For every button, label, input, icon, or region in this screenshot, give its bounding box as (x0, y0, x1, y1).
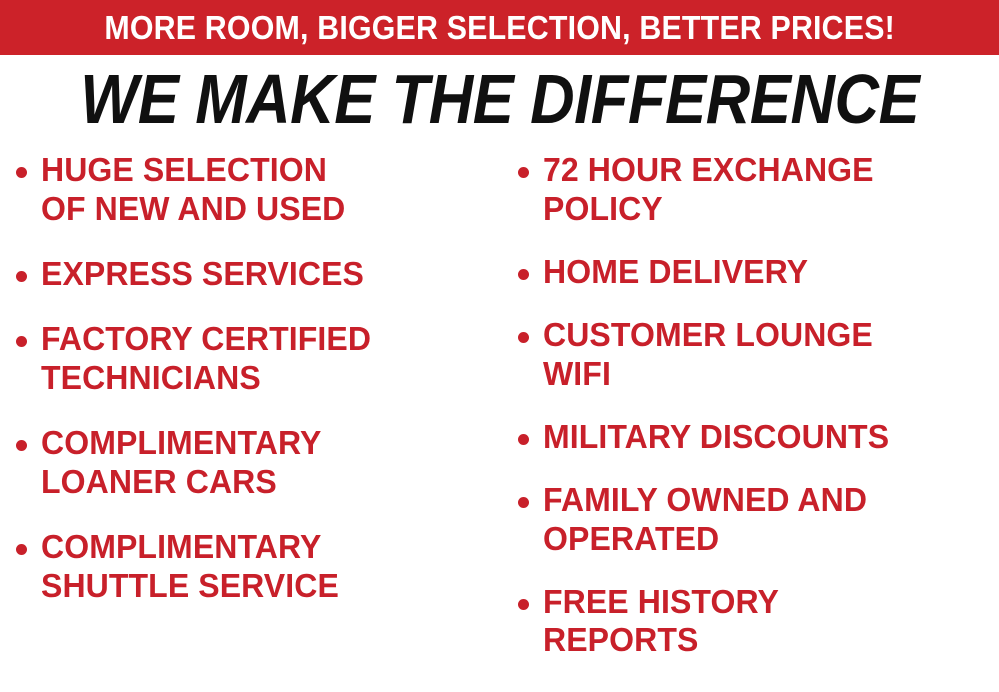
bullet-dot-icon (518, 332, 529, 343)
promo-banner: MORE ROOM, BIGGER SELECTION, BETTER PRIC… (0, 0, 999, 55)
features-columns: HUGE SELECTION OF NEW AND USED EXPRESS S… (0, 143, 999, 692)
list-item: COMPLIMENTARY SHUTTLE SERVICE (16, 528, 500, 606)
list-item-label: MILITARY DISCOUNTS (543, 418, 889, 457)
list-item-label: HOME DELIVERY (543, 253, 808, 292)
list-item: FAMILY OWNED AND OPERATED (518, 481, 999, 559)
list-item: MILITARY DISCOUNTS (518, 418, 999, 457)
bullet-dot-icon (16, 544, 27, 555)
list-item-label: HUGE SELECTION OF NEW AND USED (41, 151, 345, 229)
title-section: WE MAKE THE DIFFERENCE (0, 55, 999, 143)
bullet-dot-icon (518, 167, 529, 178)
list-item-label: FACTORY CERTIFIED TECHNICIANS (41, 320, 371, 398)
list-item-label: FAMILY OWNED AND OPERATED (543, 481, 867, 559)
list-item-label: COMPLIMENTARY LOANER CARS (41, 424, 321, 502)
list-item: CUSTOMER LOUNGE WIFI (518, 316, 999, 394)
bullet-dot-icon (518, 599, 529, 610)
list-item: HUGE SELECTION OF NEW AND USED (16, 151, 500, 229)
features-column-left: HUGE SELECTION OF NEW AND USED EXPRESS S… (0, 151, 500, 692)
bullet-dot-icon (16, 167, 27, 178)
bullet-dot-icon (16, 440, 27, 451)
banner-headline: MORE ROOM, BIGGER SELECTION, BETTER PRIC… (104, 11, 895, 44)
bullet-dot-icon (518, 269, 529, 280)
list-item: EXPRESS SERVICES (16, 255, 500, 294)
bullet-dot-icon (518, 497, 529, 508)
list-item: COMPLIMENTARY LOANER CARS (16, 424, 500, 502)
bullet-dot-icon (518, 434, 529, 445)
page-title: WE MAKE THE DIFFERENCE (80, 64, 919, 134)
bullet-dot-icon (16, 271, 27, 282)
list-item: 72 HOUR EXCHANGE POLICY (518, 151, 999, 229)
list-item: FREE HISTORY REPORTS (518, 583, 999, 661)
list-item-label: COMPLIMENTARY SHUTTLE SERVICE (41, 528, 339, 606)
list-item: HOME DELIVERY (518, 253, 999, 292)
list-item: FACTORY CERTIFIED TECHNICIANS (16, 320, 500, 398)
list-item-label: EXPRESS SERVICES (41, 255, 364, 294)
list-item-label: FREE HISTORY REPORTS (543, 583, 779, 661)
bullet-dot-icon (16, 336, 27, 347)
list-item-label: 72 HOUR EXCHANGE POLICY (543, 151, 874, 229)
list-item-label: CUSTOMER LOUNGE WIFI (543, 316, 873, 394)
features-column-right: 72 HOUR EXCHANGE POLICY HOME DELIVERY CU… (500, 151, 999, 692)
